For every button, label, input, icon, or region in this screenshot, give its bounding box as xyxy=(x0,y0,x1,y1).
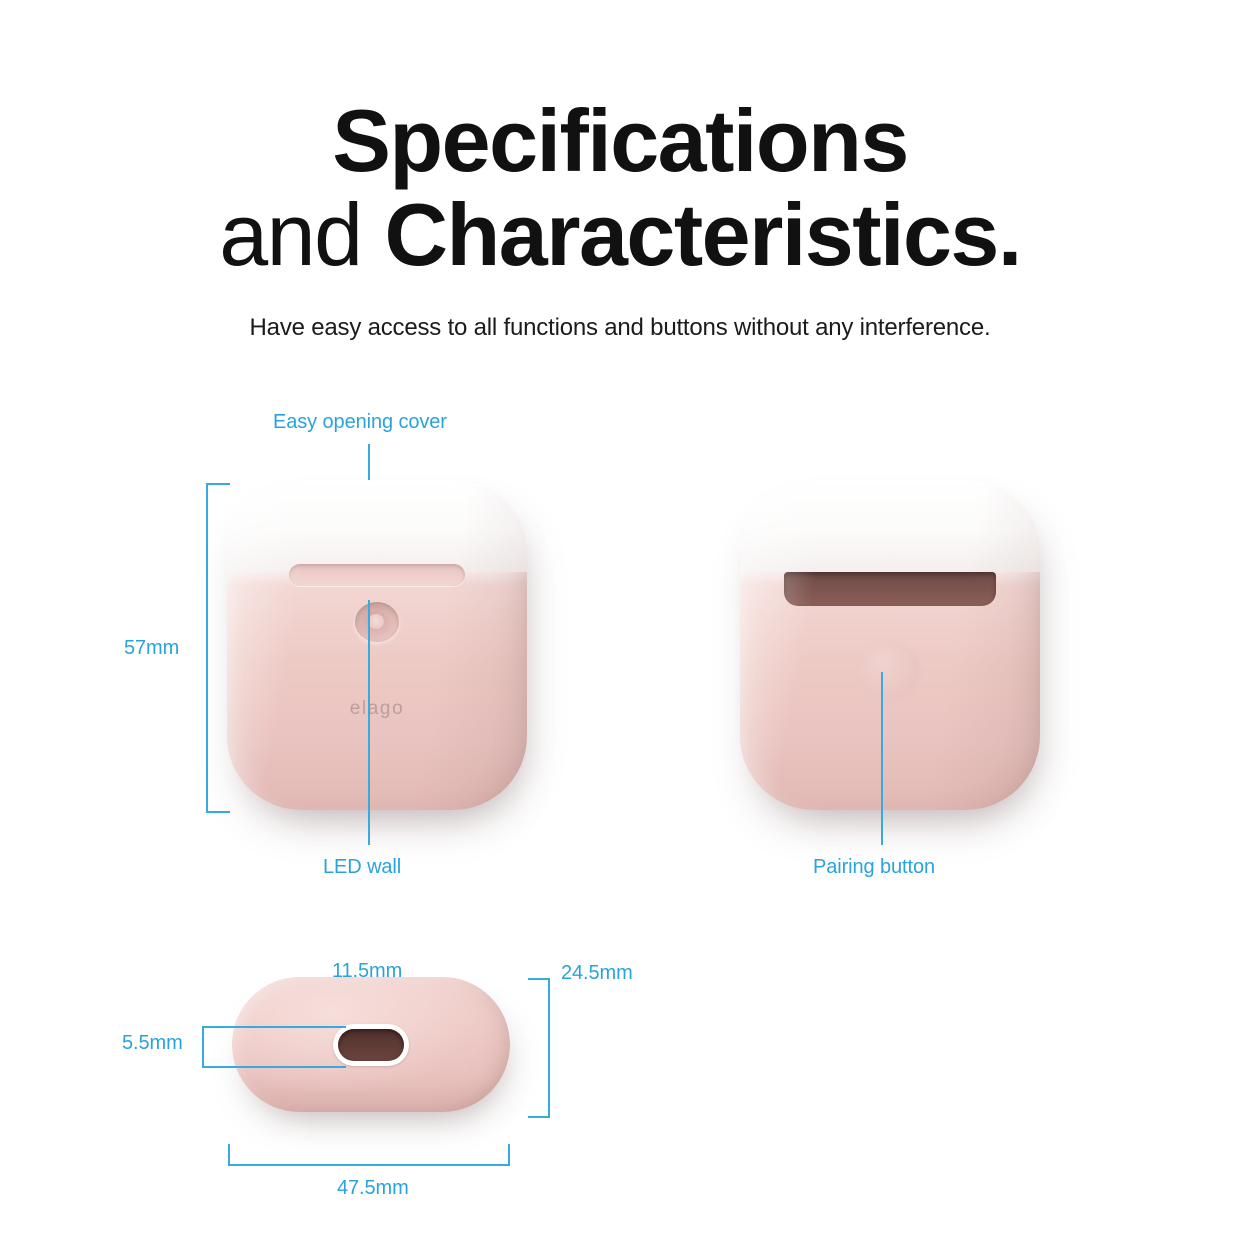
dimension-label-5-5mm: 5.5mm xyxy=(122,1032,183,1055)
width-bracket-47-5mm xyxy=(228,1144,510,1166)
depth-bracket-24-5mm xyxy=(528,978,550,1118)
brand-logo: elago xyxy=(227,698,527,720)
leader-line-pairing-button xyxy=(881,672,883,845)
specification-diagram: Easy opening cover 57mm elago LED wall P… xyxy=(0,0,1240,1240)
leader-line-port-top xyxy=(224,1026,346,1028)
leader-line-port-bottom xyxy=(224,1066,346,1068)
case-lid-front xyxy=(227,480,527,572)
hinge-recess xyxy=(784,572,996,606)
led-wall-indicator xyxy=(355,602,399,642)
dimension-label-24-5mm: 24.5mm xyxy=(561,962,633,985)
callout-pairing-button: Pairing button xyxy=(813,856,935,879)
lid-groove xyxy=(289,564,465,586)
dimension-label-47-5mm: 47.5mm xyxy=(337,1177,409,1200)
leader-line-led-wall xyxy=(368,600,370,845)
case-lid-back xyxy=(740,480,1040,572)
callout-led-wall: LED wall xyxy=(323,856,401,879)
airpods-case-back xyxy=(740,480,1040,810)
dimension-label-57mm: 57mm xyxy=(124,637,179,660)
airpods-case-bottom xyxy=(232,977,510,1112)
callout-easy-opening-cover: Easy opening cover xyxy=(273,411,447,434)
charging-port xyxy=(333,1024,409,1066)
pairing-button-bump xyxy=(858,640,920,702)
airpods-case-front: elago xyxy=(227,480,527,810)
height-bracket-5-5mm xyxy=(202,1026,226,1068)
